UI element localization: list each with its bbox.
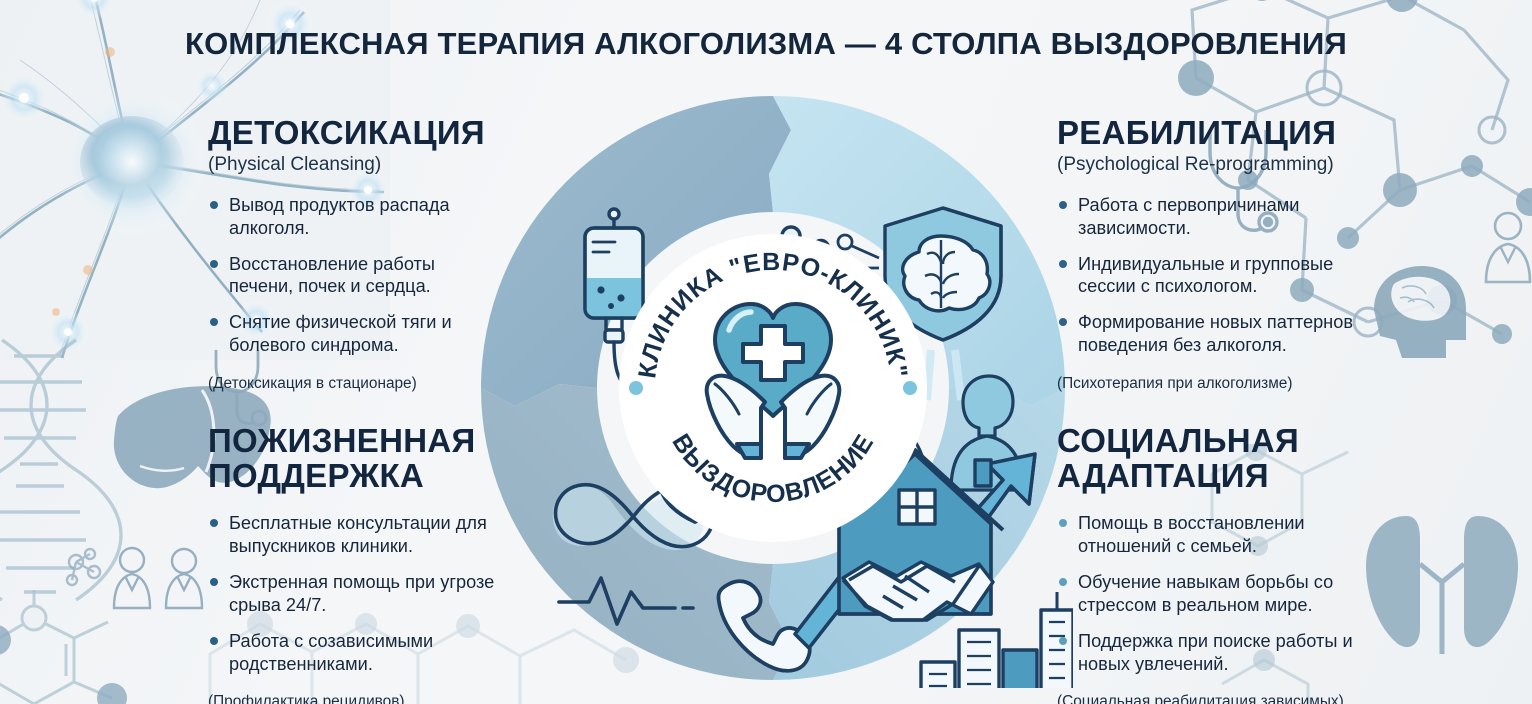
section-note: (Профилактика рецидивов) <box>208 693 518 704</box>
section-detox: ДЕТОКСИКАЦИЯ (Physical Cleansing) Вывод … <box>208 116 486 393</box>
section-heading: РЕАБИЛИТАЦИЯ <box>1057 116 1387 150</box>
section-bullet-list: Работа с первопричинами зависимости. Инд… <box>1057 194 1387 358</box>
page-title: КОМПЛЕКСНАЯ ТЕРАПИЯ АЛКОГОЛИЗМА — 4 СТОЛ… <box>0 26 1532 62</box>
list-item: Индивидуальные и групповые сессии с псих… <box>1057 253 1387 299</box>
list-item: Формирование новых паттернов поведения б… <box>1057 311 1387 357</box>
section-subheading: (Psychological Re-programming) <box>1057 154 1387 176</box>
section-note: (Психотерапия при алкоголизме) <box>1057 375 1387 393</box>
list-item: Вывод продуктов распада алкоголя. <box>208 194 486 240</box>
list-item: Экстренная помощь при угрозе срыва 24/7. <box>208 571 518 617</box>
list-item: Бесплатные консультации для выпускников … <box>208 512 518 558</box>
list-item: Восстановление работы печени, почек и се… <box>208 253 486 299</box>
list-item: Помощь в восстановлении отношений с семь… <box>1057 512 1387 558</box>
list-item: Работа с созависимыми родственниками. <box>208 630 518 676</box>
section-heading: ПОЖИЗНЕННАЯ ПОДДЕРЖКА <box>208 424 518 494</box>
section-note: (Детоксикация в стационаре) <box>208 375 486 393</box>
section-heading: СОЦИАЛЬНАЯ АДАПТАЦИЯ <box>1057 424 1387 494</box>
section-bullet-list: Бесплатные консультации для выпускников … <box>208 512 518 676</box>
section-bullet-list: Помощь в восстановлении отношений с семь… <box>1057 512 1387 676</box>
recovery-wheel-diagram: КЛИНИКА "ЕВРО-КЛИНИК" ВЫЗДОРОВЛЕНИЕ <box>473 88 1073 688</box>
list-item: Снятие физической тяги и болевого синдро… <box>208 311 486 357</box>
section-lifelong-support: ПОЖИЗНЕННАЯ ПОДДЕРЖКА Бесплатные консуль… <box>208 424 518 704</box>
section-heading: ДЕТОКСИКАЦИЯ <box>208 116 486 150</box>
section-note: (Социальная реабилитация зависимых) <box>1057 693 1387 704</box>
list-item: Обучение навыкам борьбы со стрессом в ре… <box>1057 571 1387 617</box>
section-rehabilitation: РЕАБИЛИТАЦИЯ (Psychological Re-programmi… <box>1057 116 1387 393</box>
infographic-canvas: КОМПЛЕКСНАЯ ТЕРАПИЯ АЛКОГОЛИЗМА — 4 СТОЛ… <box>0 0 1532 704</box>
section-bullet-list: Вывод продуктов распада алкоголя. Восста… <box>208 194 486 358</box>
section-social-adaptation: СОЦИАЛЬНАЯ АДАПТАЦИЯ Помощь в восстановл… <box>1057 424 1387 704</box>
list-item: Поддержка при поиске работы и новых увле… <box>1057 630 1387 676</box>
section-subheading: (Physical Cleansing) <box>208 154 486 176</box>
center-emblem: КЛИНИКА "ЕВРО-КЛИНИК" ВЫЗДОРОВЛЕНИЕ <box>619 234 927 542</box>
list-item: Работа с первопричинами зависимости. <box>1057 194 1387 240</box>
